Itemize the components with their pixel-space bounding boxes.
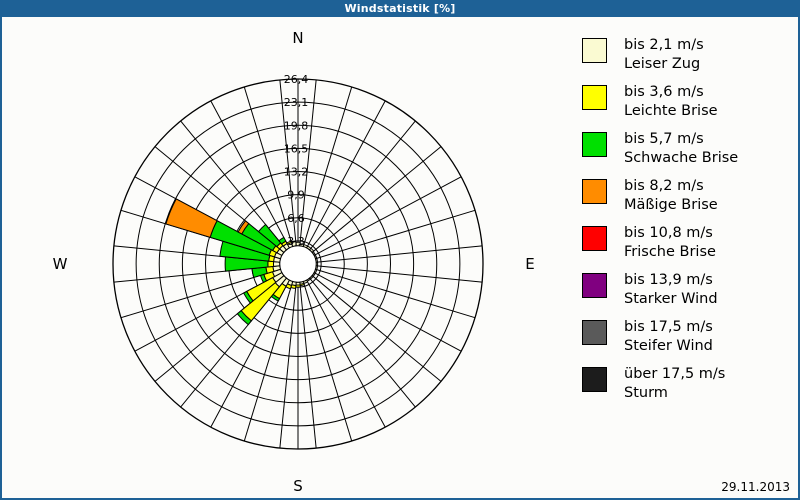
legend-color-swatch [582,273,607,298]
compass-label-west: W [40,255,80,273]
wind-petal-segment [300,283,304,285]
windrose-window: Windstatistik [%] 3,36,69,913,216,519,82… [0,0,800,500]
date-stamp: 29.11.2013 [721,480,790,494]
legend-category-name: Mäßige Brise [624,196,718,215]
legend-item[interactable]: bis 5,7 m/sSchwache Brise [582,130,792,173]
compass-label-east: E [510,255,550,273]
legend-speed-range: bis 3,6 m/s [624,83,718,102]
legend-category-name: Leichte Brise [624,102,718,121]
legend-item[interactable]: bis 17,5 m/sSteifer Wind [582,318,792,361]
wind-rose-plot: 3,36,69,913,216,519,823,126,4 N E S W [2,17,572,498]
legend-category-name: Frische Brise [624,243,716,262]
legend-item[interactable]: bis 3,6 m/sLeichte Brise [582,83,792,126]
legend-category-name: Schwache Brise [624,149,738,168]
compass-label-south: S [278,477,318,495]
grid-spoke [307,280,386,427]
radial-tick-label: 26,4 [284,73,309,86]
grid-spoke [315,210,475,258]
grid-spoke [314,273,461,352]
grid-spoke [303,281,351,441]
grid-spoke [314,177,461,256]
legend-color-swatch [582,320,607,345]
legend-speed-range: bis 17,5 m/s [624,318,713,337]
grid-spoke [310,121,416,250]
legend-label: bis 3,6 m/sLeichte Brise [624,83,718,121]
legend-color-swatch [582,179,607,204]
legend-label: bis 8,2 m/sMäßige Brise [624,177,718,215]
wind-rose-chart: 3,36,69,913,216,519,823,126,4 [2,17,572,498]
legend-category-name: Starker Wind [624,290,718,309]
legend: bis 2,1 m/sLeiser Zugbis 3,6 m/sLeichte … [582,36,792,412]
compass-label-north: N [278,29,318,47]
legend-color-swatch [582,85,607,110]
legend-label: bis 17,5 m/sSteifer Wind [624,318,713,356]
legend-color-swatch [582,38,607,63]
grid-spoke [312,276,441,382]
legend-label: bis 13,9 m/sStarker Wind [624,271,718,309]
radial-tick-label: 16,5 [284,142,309,155]
legend-category-name: Steifer Wind [624,337,713,356]
legend-label: bis 5,7 m/sSchwache Brise [624,130,738,168]
radial-tick-label: 19,8 [284,119,309,132]
legend-speed-range: über 17,5 m/s [624,365,725,384]
legend-speed-range: bis 5,7 m/s [624,130,738,149]
legend-item[interactable]: bis 10,8 m/sFrische Brise [582,224,792,267]
legend-color-swatch [582,132,607,157]
legend-category-name: Leiser Zug [624,55,704,74]
calm-center-circle [280,246,316,282]
legend-category-name: Sturm [624,384,725,403]
radial-tick-label: 13,2 [284,166,309,179]
window-title: Windstatistik [%] [344,2,455,15]
legend-color-swatch [582,367,607,392]
legend-item[interactable]: bis 8,2 m/sMäßige Brise [582,177,792,220]
legend-color-swatch [582,226,607,251]
legend-speed-range: bis 8,2 m/s [624,177,718,196]
grid-spoke [312,147,441,253]
radial-tick-label: 6,6 [287,212,305,225]
legend-speed-range: bis 10,8 m/s [624,224,716,243]
legend-speed-range: bis 2,1 m/s [624,36,704,55]
legend-label: bis 10,8 m/sFrische Brise [624,224,716,262]
legend-label: bis 2,1 m/sLeiser Zug [624,36,704,74]
legend-item[interactable]: über 17,5 m/sSturm [582,365,792,408]
legend-speed-range: bis 13,9 m/s [624,271,718,290]
grid-spoke [303,87,351,247]
radial-tick-label: 23,1 [284,96,309,109]
wind-petal-segment [166,199,217,237]
legend-label: über 17,5 m/sSturm [624,365,725,403]
grid-spoke [307,101,386,248]
wind-petal-segment [296,285,301,287]
radial-tick-label: 9,9 [287,189,305,202]
legend-item[interactable]: bis 13,9 m/sStarker Wind [582,271,792,314]
grid-spoke [310,278,416,407]
legend-item[interactable]: bis 2,1 m/sLeiser Zug [582,36,792,79]
grid-spoke [315,269,475,317]
window-title-bar: Windstatistik [%] [0,0,800,17]
center-hole [280,246,316,282]
radial-tick-label: 3,3 [287,235,305,248]
